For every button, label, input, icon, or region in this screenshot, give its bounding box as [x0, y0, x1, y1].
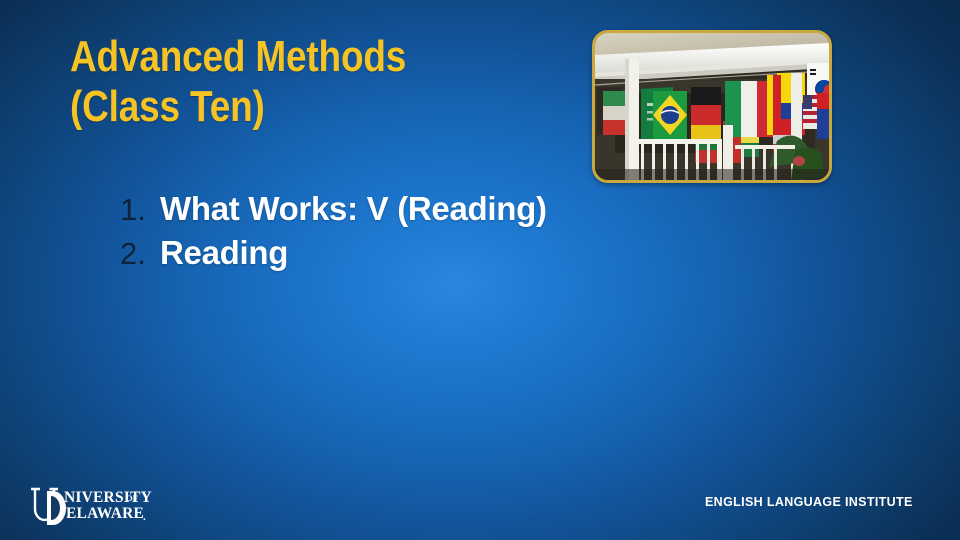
- list-item: 2. Reading: [120, 234, 760, 278]
- list-item-label: What Works: V (Reading): [160, 190, 547, 228]
- slide-body-list: 1. What Works: V (Reading) 2. Reading: [120, 190, 760, 278]
- list-item-label: Reading: [160, 234, 288, 272]
- ud-logo-period: .: [143, 511, 146, 523]
- flags-photo-artwork: [595, 33, 829, 180]
- ud-logo-of: OF: [126, 493, 138, 503]
- ud-logo-line-1: NIVERSITY: [64, 489, 152, 506]
- list-item-number: 1.: [120, 192, 160, 228]
- international-flags-photo: [592, 30, 832, 183]
- list-item: 1. What Works: V (Reading): [120, 190, 760, 234]
- ud-logo-artwork: NIVERSITY OF ELAWARE .: [30, 485, 158, 527]
- slide-title: Advanced Methods (Class Ten): [70, 32, 590, 132]
- slide-title-line-2: (Class Ten): [70, 82, 507, 132]
- english-language-institute-label: ENGLISH LANGUAGE INSTITUTE: [705, 495, 913, 509]
- presentation-slide: Advanced Methods (Class Ten) 1. What Wor…: [0, 0, 960, 540]
- university-of-delaware-logo: NIVERSITY OF ELAWARE .: [30, 485, 158, 527]
- ud-logo-line-2: ELAWARE: [66, 505, 144, 522]
- list-item-number: 2.: [120, 236, 160, 272]
- slide-title-line-1: Advanced Methods: [70, 32, 507, 82]
